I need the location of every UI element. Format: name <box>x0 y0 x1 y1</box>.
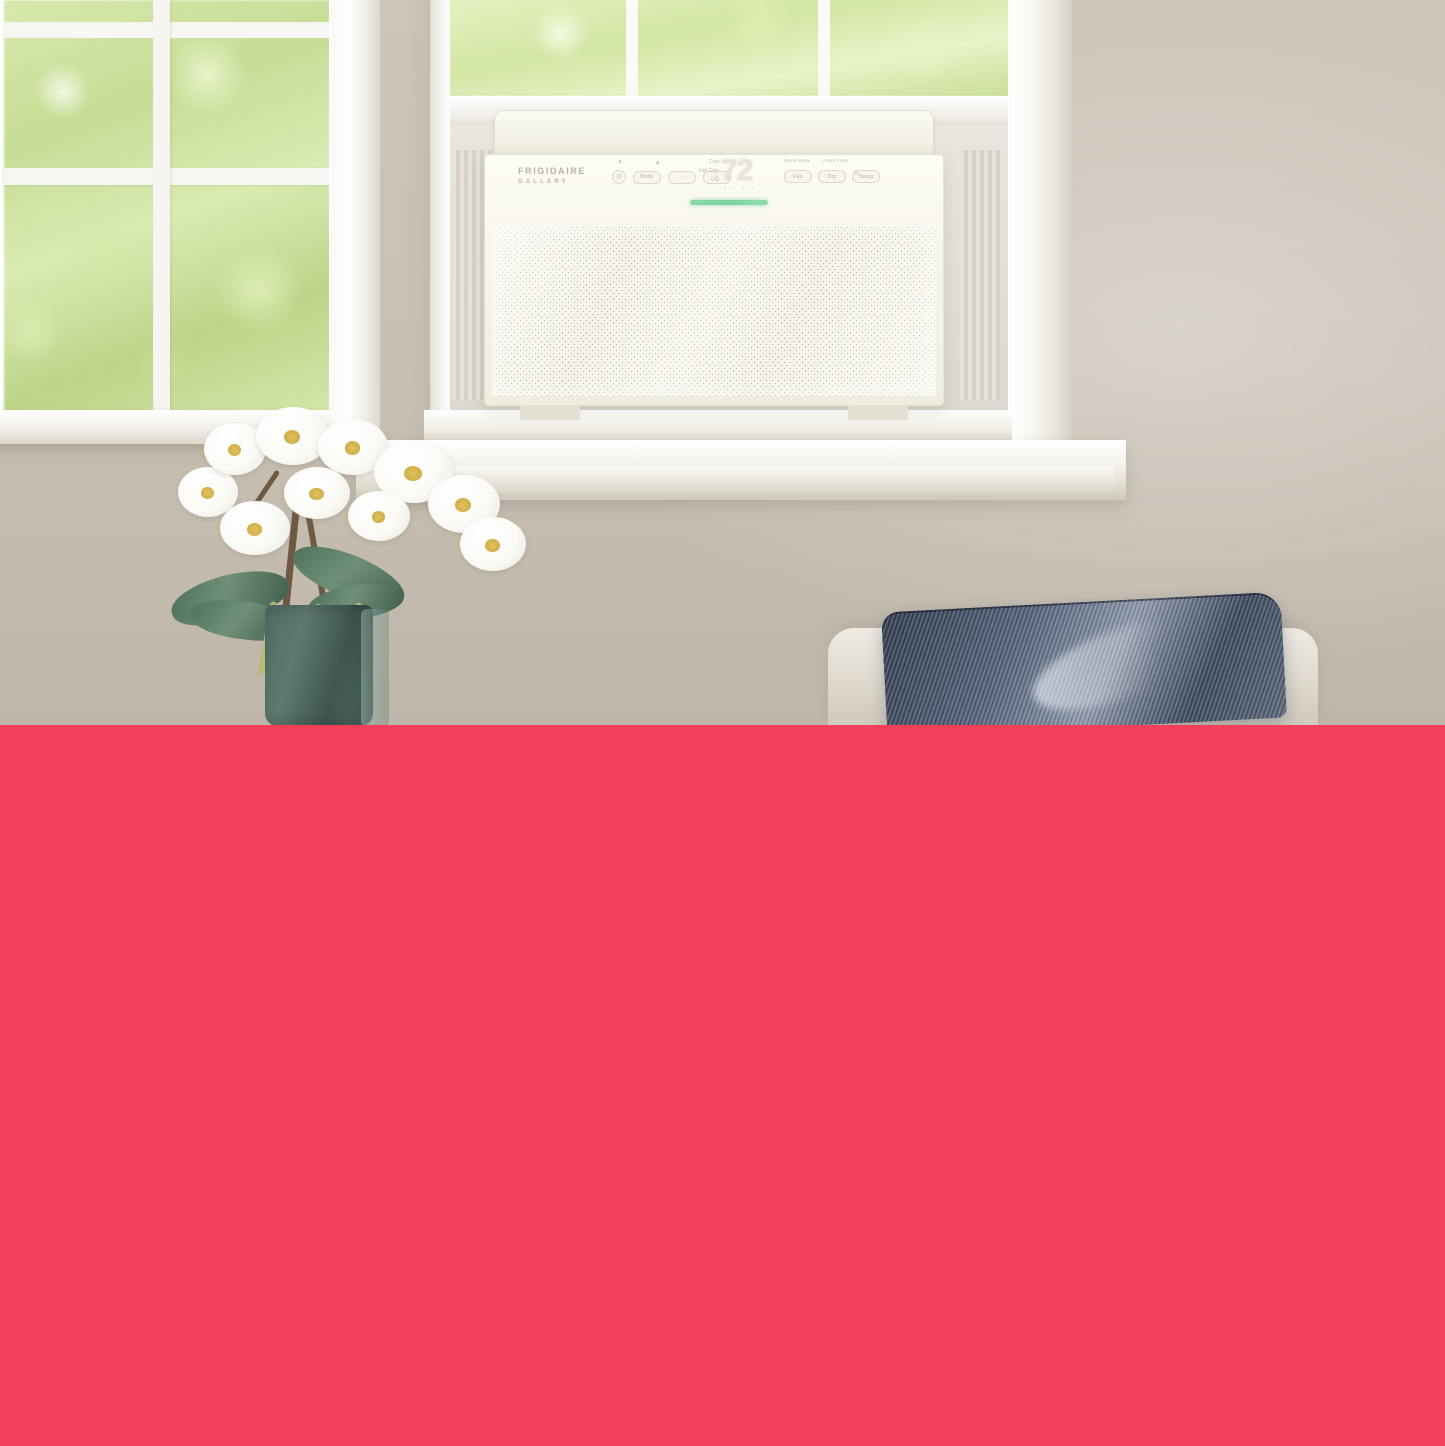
fan-button[interactable]: Fan <box>784 170 812 183</box>
main-window-muntin-2 <box>818 0 830 96</box>
ac-foot-right <box>848 406 908 420</box>
pillow-edge <box>881 592 1287 726</box>
orchid-bloom <box>256 407 330 465</box>
ac-display-dots: • • • • <box>724 186 756 192</box>
room-photo: FRIGIDAIRE GALLERY ▾ ▴ ⏻ Mode - + Cool F… <box>0 0 1445 726</box>
dry-button[interactable]: Dry <box>818 170 846 183</box>
left-window <box>0 0 345 444</box>
temp-up-icon[interactable]: ▴ <box>656 158 660 166</box>
throw-pillow <box>881 592 1287 726</box>
main-window-jamb-left <box>430 0 450 450</box>
ac-sub-brand-name: GALLERY <box>518 177 586 188</box>
main-window-muntin-1 <box>626 0 638 96</box>
ac-status-indicator <box>690 200 768 205</box>
power-icon[interactable]: ⏻ <box>612 170 626 184</box>
product-infographic: FRIGIDAIRE GALLERY ▾ ▴ ⏻ Mode - + Cool F… <box>0 0 1445 1446</box>
ac-brand-logo: FRIGIDAIRE GALLERY <box>518 166 586 188</box>
ac-temperature-display: 72 <box>721 154 752 188</box>
main-window-upper-glass <box>448 0 1012 96</box>
clean-filter-label: Clean Filter <box>823 158 849 163</box>
window-slats-right <box>960 150 1000 400</box>
orchid-bloom <box>348 491 410 541</box>
mode-label-cool: Cool <box>689 158 719 167</box>
orchid-bloom <box>284 467 350 519</box>
main-window-right-casing <box>1012 0 1072 480</box>
noise-level-infographic: Benefit from quiet operation at 42 dBA 4… <box>0 725 1445 1446</box>
orchid-plant <box>160 405 550 726</box>
sleep-mode-label: Sleep Mode <box>784 158 811 163</box>
orchid-bloom <box>220 501 290 555</box>
ac-front-grille <box>492 226 936 396</box>
orchid-pot <box>265 605 373 726</box>
air-conditioner-unit: FRIGIDAIRE GALLERY ▾ ▴ ⏻ Mode - + Cool F… <box>484 110 944 420</box>
orchid-bloom <box>460 517 526 571</box>
left-window-muntin-vertical <box>153 0 170 414</box>
left-window-casing <box>334 0 380 460</box>
mode-button[interactable]: Mode <box>633 171 661 184</box>
wifi-icon: ≋ <box>854 170 859 177</box>
mode-label-dry: Dry <box>689 176 719 185</box>
mode-label-fan-only: Fan Only <box>689 167 719 176</box>
temp-down-icon[interactable]: ▾ <box>618 158 622 166</box>
ac-mode-labels: Cool Fan Only Dry <box>689 158 719 185</box>
ac-right-control-labels: Sleep Mode Clean Filter <box>784 158 848 163</box>
ac-brand-name: FRIGIDAIRE <box>518 166 586 176</box>
ac-right-control-group: Fan Dry Swing <box>784 170 880 183</box>
